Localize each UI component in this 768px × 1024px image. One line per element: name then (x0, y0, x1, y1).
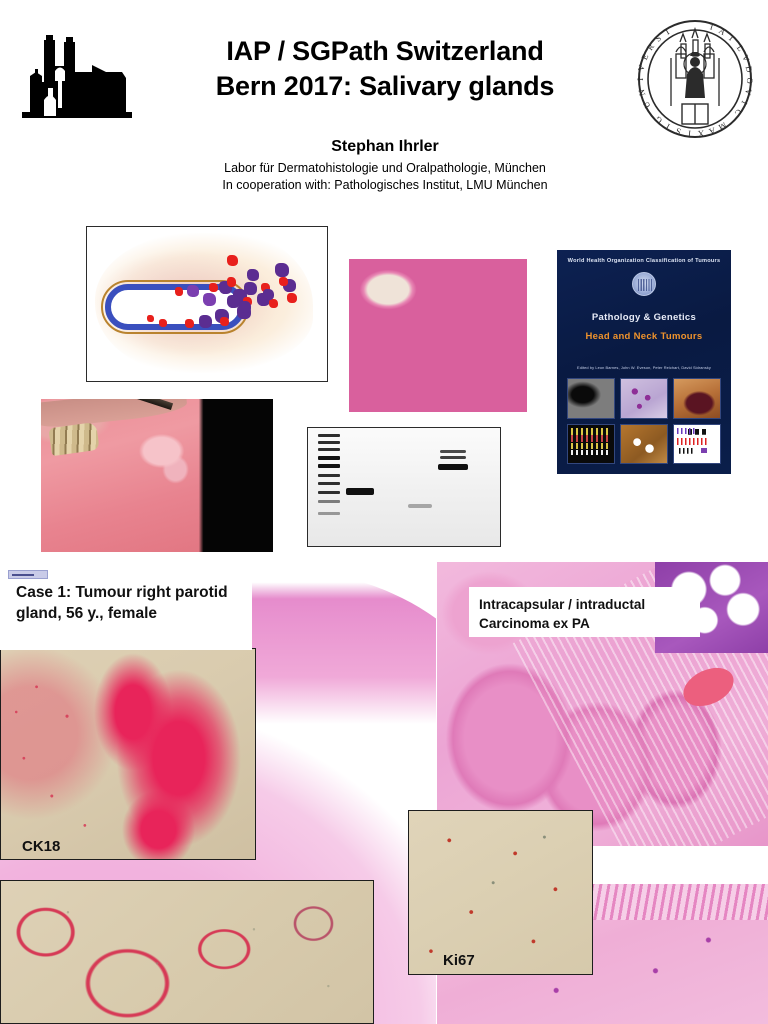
invasive-tumour-cell (269, 299, 278, 308)
duct-tumour-progression-schematic (86, 226, 328, 382)
tumour-cell-nucleus (185, 319, 194, 328)
book-editors: Edited by Leon Barnes, John W. Eveson, P… (557, 365, 731, 370)
invasive-tumour-cell (279, 277, 288, 286)
tumour-cell-nucleus (227, 277, 236, 287)
diagnosis-label-box: Intracapsular / intraductal Carcinoma ex… (469, 587, 700, 637)
cover-thumb-immunostain (620, 424, 668, 465)
cover-thumb-ct-scan (567, 378, 615, 419)
ck18-immunostain-micrograph (0, 648, 256, 860)
svg-text:N: N (636, 88, 647, 97)
book-cover-image-grid (567, 378, 721, 464)
cover-thumb-karyotype (567, 424, 615, 465)
who-classification-book-cover: World Health Organization Classification… (557, 250, 731, 474)
slide-artifact-marker (8, 570, 48, 579)
lower-left-nuclei-grain (1, 881, 373, 1023)
case-1-label-box: Case 1: Tumour right parotid gland, 56 y… (0, 568, 252, 650)
lmu-university-seal: U N I V E R S I T A T L V D O V I (624, 18, 766, 140)
gel-band (408, 504, 432, 508)
diagnosis-label-line-1: Intracapsular / intraductal (479, 595, 692, 614)
tumour-cell-nucleus (209, 283, 218, 292)
title-line-2: Bern 2017: Salivary glands (150, 69, 620, 104)
tumour-cell-nucleus (147, 315, 154, 322)
he-cystic-histology-micrograph (349, 259, 527, 412)
gel-band (438, 464, 468, 470)
invasive-tumour-cell (263, 289, 274, 300)
gel-electrophoresis-image (307, 427, 501, 547)
slide-title: IAP / SGPath Switzerland Bern 2017: Sali… (150, 34, 620, 103)
cover-thumb-gel-analysis (673, 424, 721, 465)
he-cystic-tissue (349, 259, 527, 412)
ki67-stain-label: Ki67 (443, 952, 475, 969)
book-series-title: World Health Organization Classification… (563, 258, 725, 264)
tumour-cell (199, 315, 212, 328)
slide-header: IAP / SGPath Switzerland Bern 2017: Sali… (0, 0, 768, 210)
intraoral-clinical-photograph (41, 399, 273, 552)
gel-band (440, 450, 466, 453)
book-subtitle: Pathology & Genetics (557, 312, 731, 323)
invasive-tumour-cell (239, 301, 251, 313)
invasive-tumour-cell (244, 282, 257, 295)
case-1-label-line-1: Case 1: Tumour right parotid (16, 582, 242, 603)
affiliation-line-2: In cooperation with: Pathologisches Inst… (120, 177, 650, 194)
diagnosis-label-line-2: Carcinoma ex PA (479, 614, 692, 633)
ki67-immunostain-micrograph (408, 810, 593, 975)
invasive-tumour-cell (287, 293, 297, 303)
svg-text:D: D (744, 65, 755, 73)
tumour-cell (187, 285, 199, 297)
author-name: Stephan Ihrler (150, 138, 620, 156)
tumour-cell (203, 293, 216, 306)
cover-thumb-histology (620, 378, 668, 419)
book-title: Head and Neck Tumours (557, 331, 731, 342)
tumour-cell-nucleus (220, 317, 229, 326)
tumour-cell-nucleus (159, 319, 167, 327)
svg-text:I: I (635, 77, 645, 80)
who-emblem-icon (632, 272, 656, 296)
tumour-cell-nucleus (175, 287, 183, 296)
affiliation-block: Labor für Dermatohistologie und Oralpath… (120, 160, 650, 194)
immunostain-lower-left-micrograph (0, 880, 374, 1024)
gel-band (440, 456, 466, 459)
gel-size-ladder (318, 434, 340, 516)
title-line-1: IAP / SGPath Switzerland (150, 34, 620, 69)
svg-text:O: O (745, 77, 755, 84)
svg-text:X: X (697, 128, 705, 139)
cover-thumb-endoscopy (673, 378, 721, 419)
affiliation-line-1: Labor für Dermatohistologie und Oralpath… (120, 160, 650, 177)
presentation-slide: IAP / SGPath Switzerland Bern 2017: Sali… (0, 0, 768, 1024)
ck18-stain-label: CK18 (22, 838, 60, 855)
invasive-tumour-cell (247, 269, 259, 281)
invasive-tumour-cell (275, 263, 289, 277)
ck18-stain-speckles (1, 649, 255, 859)
ki67-positive-nuclei (409, 811, 592, 974)
invasive-tumour-cell (227, 255, 238, 266)
case-1-label-line-2: gland, 56 y., female (16, 603, 242, 624)
munich-frauenkirche-logo (22, 28, 142, 123)
gel-band (346, 488, 374, 495)
